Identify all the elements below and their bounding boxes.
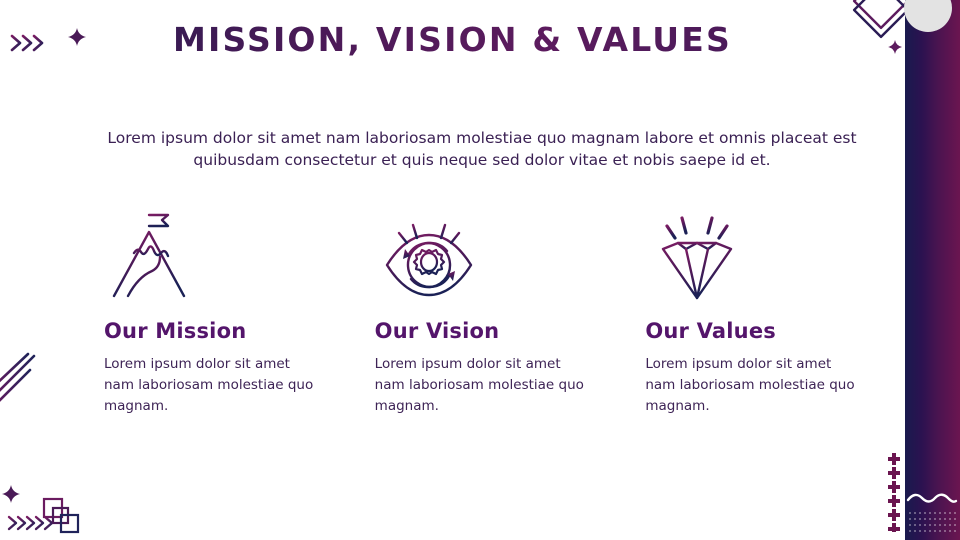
chevrons-right-icon — [8, 32, 52, 54]
eye-gear-icon — [359, 200, 616, 305]
sparkle-star-icon — [68, 28, 86, 46]
column-vision: Our Vision Lorem ipsum dolor sit amet na… — [359, 200, 616, 417]
mountain-flag-icon — [88, 200, 345, 305]
nested-diamonds-icon — [850, 0, 912, 62]
column-body-mission: Lorem ipsum dolor sit amet nam laboriosa… — [88, 354, 319, 417]
feature-columns: Our Mission Lorem ipsum dolor sit amet n… — [88, 200, 900, 417]
wave-line-icon — [906, 489, 958, 507]
column-body-values: Lorem ipsum dolor sit amet nam laboriosa… — [629, 354, 860, 417]
page-title: MISSION, VISION & VALUES — [0, 20, 905, 59]
right-gradient-bar — [905, 0, 960, 540]
diagonal-lines-icon — [0, 348, 44, 404]
column-values: Our Values Lorem ipsum dolor sit amet na… — [629, 200, 886, 417]
slide-canvas: MISSION, VISION & VALUES Lorem ipsum dol… — [0, 0, 960, 540]
column-title-vision: Our Vision — [359, 319, 616, 343]
column-body-vision: Lorem ipsum dolor sit amet nam laboriosa… — [359, 354, 590, 417]
column-title-values: Our Values — [629, 319, 886, 343]
intro-paragraph: Lorem ipsum dolor sit amet nam laboriosa… — [78, 127, 886, 172]
sparkle-star-icon — [888, 40, 902, 54]
overlapping-squares-icon — [40, 495, 90, 539]
dot-grid-icon — [906, 510, 958, 536]
plus-column-icon — [886, 452, 902, 532]
column-title-mission: Our Mission — [88, 319, 345, 343]
column-mission: Our Mission Lorem ipsum dolor sit amet n… — [88, 200, 345, 417]
sparkle-star-icon — [2, 485, 20, 503]
diamond-sparkle-icon — [629, 200, 886, 305]
